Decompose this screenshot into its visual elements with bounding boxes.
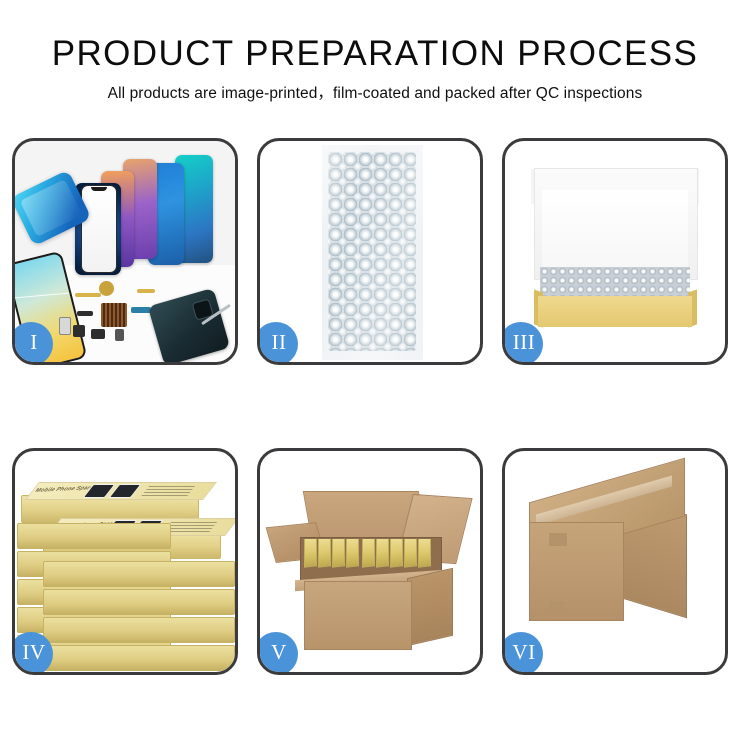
carton-front-face: [304, 581, 412, 649]
small-screw-part-icon: [115, 329, 124, 341]
panel-image-products: [15, 141, 235, 362]
step-badge-1: I: [12, 322, 53, 365]
page-subtitle: All products are image-printed，film-coat…: [0, 83, 750, 105]
panel-image-bubble-wrap: [260, 141, 480, 362]
step-panel-sealed-carton: VI: [502, 448, 728, 675]
sim-tray-part-icon: [59, 317, 71, 335]
panel-image-open-carton: [260, 451, 480, 672]
carton-handle-notch-bottom: [549, 601, 564, 612]
box-front-kraft: [538, 296, 692, 327]
vibrator-part-icon: [73, 325, 85, 337]
product-preparation-infographic: PRODUCT PREPARATION PROCESS All products…: [0, 0, 750, 750]
box-interior: [542, 190, 687, 270]
process-steps-grid: I II III: [12, 138, 738, 675]
retail-box-layer: [17, 523, 171, 549]
step-badge-6: VI: [502, 632, 543, 675]
retail-box-layer: [43, 617, 235, 643]
step-badge-4: IV: [12, 632, 53, 675]
step-panel-inner-box-packing: III: [502, 138, 728, 365]
carton-handle-notch-top: [549, 533, 567, 546]
step-panel-carton-filling: V: [257, 448, 483, 675]
retail-box-layer: [43, 645, 235, 671]
chip-array-part-icon: [101, 303, 127, 327]
packed-box-icon: [304, 539, 317, 568]
packed-box-icon: [346, 539, 359, 568]
retail-box-layer: [43, 589, 235, 615]
speaker-part-icon: [99, 281, 114, 296]
spec-text-block: [163, 520, 218, 532]
carton-side-face: [407, 567, 453, 646]
spec-text-block: [141, 484, 196, 496]
step-badge-2: II: [257, 322, 298, 365]
plastic-sheen: [322, 141, 423, 362]
step-panel-products-and-spare-parts: I: [12, 138, 238, 365]
packed-box-icon: [404, 539, 417, 568]
panel-image-inner-box: [505, 141, 725, 362]
screen-glass-white-icon: [81, 185, 117, 273]
connector-part-icon: [77, 311, 93, 316]
packed-box-icon: [390, 539, 403, 568]
retail-box-layer: [43, 561, 235, 587]
bubble-wrapped-contents-icon: [540, 267, 690, 298]
packed-box-icon: [362, 539, 375, 568]
speaker-box-part-icon: [91, 329, 105, 339]
phone-notch-icon: [91, 187, 107, 191]
packed-box-icon: [418, 539, 431, 568]
step-badge-3: III: [502, 322, 543, 365]
camera-flex-part-icon: [131, 307, 151, 313]
box-stack: Mobile Phone Spare Parts Mobile Phone Sp…: [17, 465, 235, 665]
packed-box-icon: [376, 539, 389, 568]
button-flex-part-icon: [137, 289, 155, 293]
panel-image-sealed-carton: [505, 451, 725, 672]
packed-box-icon: [332, 539, 345, 568]
step-badge-5: V: [257, 632, 298, 675]
header: PRODUCT PREPARATION PROCESS All products…: [0, 0, 750, 105]
sealed-carton-front-face: [529, 522, 623, 621]
flex-cable-part-icon: [75, 293, 101, 297]
page-title: PRODUCT PREPARATION PROCESS: [0, 34, 750, 74]
step-panel-bubble-wrap-packing: II: [257, 138, 483, 365]
panel-image-stacked-boxes: Mobile Phone Spare Parts Mobile Phone Sp…: [15, 451, 235, 672]
packed-box-icon: [318, 539, 331, 568]
step-panel-stacked-retail-boxes: Mobile Phone Spare Parts Mobile Phone Sp…: [12, 448, 238, 675]
